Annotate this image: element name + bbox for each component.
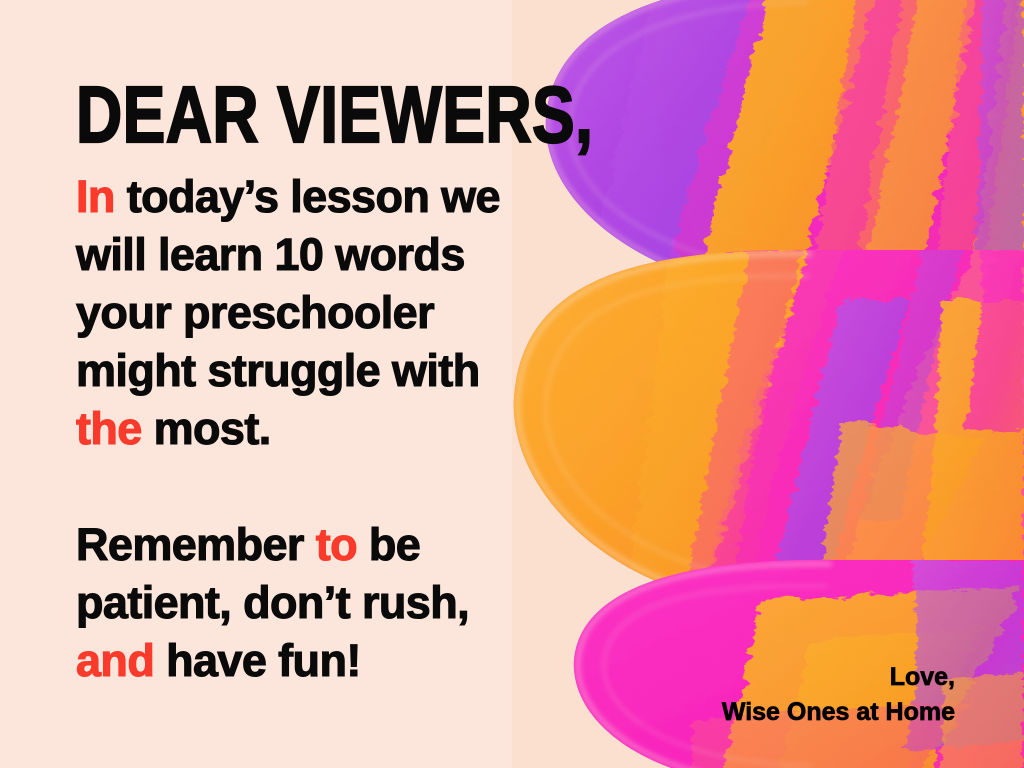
paragraph-2-highlight-and: and (76, 635, 154, 686)
paragraph-1: In today’s lesson we will learn 10 words… (76, 168, 546, 458)
signature-line-love: Love, (722, 660, 955, 695)
text-column: DEAR VIEWERS, In today’s lesson we will … (0, 0, 560, 768)
paragraph-2-text-a: Remember (76, 519, 316, 570)
paragraph-1-text-b: most. (142, 403, 271, 454)
signature-line-name: Wise Ones at Home (722, 695, 955, 730)
paragraph-1-text-a: today’s lesson we will learn 10 words yo… (76, 171, 500, 396)
paragraph-2-highlight-to: to (316, 519, 357, 570)
paragraph-2-text-c: have fun! (154, 635, 361, 686)
page-title: DEAR VIEWERS, (76, 78, 593, 152)
paragraph-spacer (76, 458, 546, 516)
paragraph-1-highlight-in: In (76, 171, 115, 222)
signature-block: Love, Wise Ones at Home (722, 660, 955, 730)
poster-canvas: DEAR VIEWERS, In today’s lesson we will … (0, 0, 1024, 768)
body-copy: In today’s lesson we will learn 10 words… (76, 168, 546, 690)
paragraph-2: Remember to be patient, don’t rush, and … (76, 516, 546, 690)
paragraph-1-highlight-the: the (76, 403, 142, 454)
